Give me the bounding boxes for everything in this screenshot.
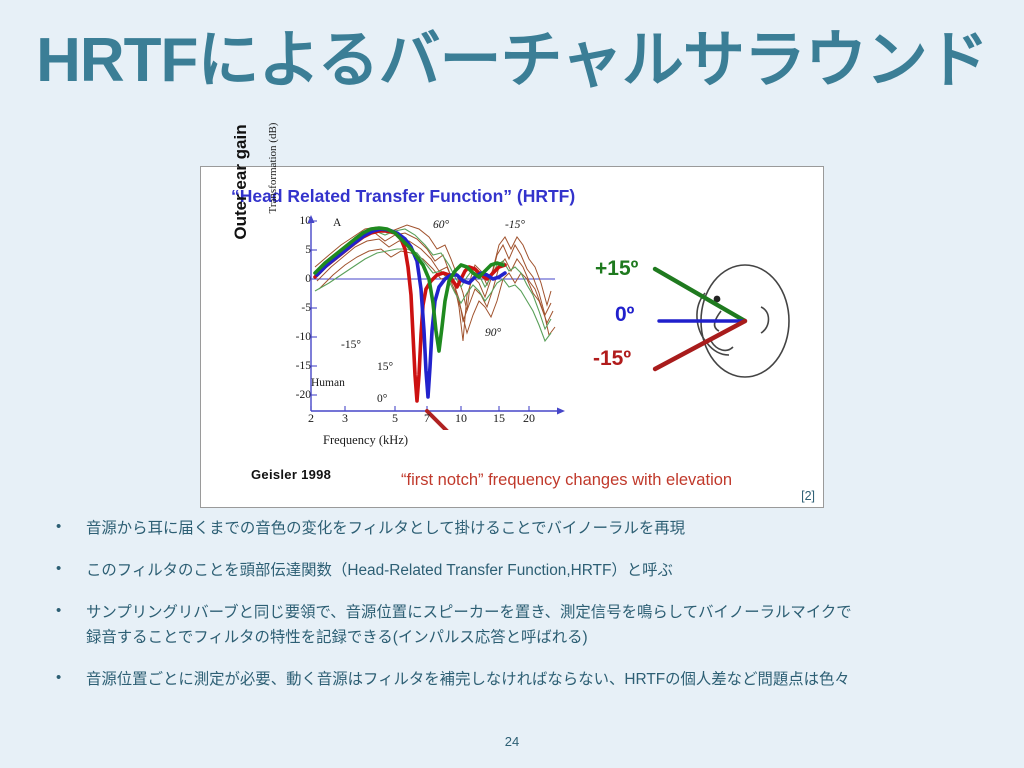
plot-svg <box>237 215 567 430</box>
hrtf-plot: Outer ear gain Transformation (dB) 10 5 … <box>237 215 627 505</box>
bullet-line: 録音することでフィルタの特性を記録できる(インパルス応答と呼ばれる) <box>86 625 988 650</box>
list-item: • 音源から耳に届くまでの音色の変化をフィルタとして掛けることでバイノーラルを再… <box>48 516 988 541</box>
bullet-marker: • <box>48 600 86 622</box>
figure-caption: “first notch” frequency changes with ele… <box>401 471 732 490</box>
bullet-marker: • <box>48 667 86 689</box>
bullet-text: このフィルタのことを頭部伝達関数（Head-Related Transfer F… <box>86 558 988 583</box>
plot-note-species: Human <box>311 377 345 389</box>
y-tick-marks <box>311 221 317 395</box>
slide: HRTFによるバーチャルサラウンド “Head Related Transfer… <box>0 0 1024 768</box>
x-tick: 20 <box>523 411 535 426</box>
figure-reference: [2] <box>801 489 815 503</box>
plot-note-plus15deg: 15° <box>377 361 393 373</box>
bullet-text: 音源から耳に届くまでの音色の変化をフィルタとして掛けることでバイノーラルを再現 <box>86 516 988 541</box>
angle-label-minus-15: -15º <box>593 347 631 371</box>
plot-note-minus15deg: -15° <box>341 339 361 351</box>
head-elevation-diagram: +15º 0º -15º <box>593 251 811 391</box>
plot-note-60deg: 60° <box>433 219 449 231</box>
list-item: • 音源位置ごとに測定が必要、動く音源はフィルタを補完しなければならない、HRT… <box>48 667 988 692</box>
bullet-list: • 音源から耳に届くまでの音色の変化をフィルタとして掛けることでバイノーラルを再… <box>48 516 988 709</box>
bullet-line: 音源位置ごとに測定が必要、動く音源はフィルタを補完しなければならない、HRTFの… <box>86 667 988 692</box>
x-axis-arrow <box>557 408 565 415</box>
x-axis-ticks: 2 3 5 7 10 15 20 <box>237 411 527 431</box>
plot-note-0deg: 0° <box>377 393 387 405</box>
list-item: • このフィルタのことを頭部伝達関数（Head-Related Transfer… <box>48 558 988 583</box>
plot-note-top-minus15deg: -15° <box>505 219 525 231</box>
page-number: 24 <box>0 734 1024 749</box>
x-tick: 7 <box>424 411 430 426</box>
bullet-line: このフィルタのことを頭部伝達関数（Head-Related Transfer F… <box>86 558 988 583</box>
bullet-text: 音源位置ごとに測定が必要、動く音源はフィルタを補完しなければならない、HRTFの… <box>86 667 988 692</box>
y-axis-arrow <box>308 215 315 223</box>
bullet-marker: • <box>48 516 86 538</box>
bullet-line: サンプリングリバーブと同じ要領で、音源位置にスピーカーを置き、測定信号を鳴らして… <box>86 600 988 625</box>
x-axis-title: Frequency (kHz) <box>323 433 408 448</box>
x-tick: 3 <box>342 411 348 426</box>
figure-heading: “Head Related Transfer Function” (HRTF) <box>231 186 575 207</box>
plot-note-90deg: 90° <box>485 327 501 339</box>
bullet-marker: • <box>48 558 86 580</box>
list-item: • サンプリングリバーブと同じ要領で、音源位置にスピーカーを置き、測定信号を鳴ら… <box>48 600 988 650</box>
bullet-line: 音源から耳に届くまでの音色の変化をフィルタとして掛けることでバイノーラルを再現 <box>86 516 988 541</box>
angle-label-0: 0º <box>615 303 634 327</box>
figure-citation: Geisler 1998 <box>251 467 331 482</box>
x-tick: 15 <box>493 411 505 426</box>
angle-label-plus-15: +15º <box>595 257 638 281</box>
page-title: HRTFによるバーチャルサラウンド <box>0 28 1024 93</box>
x-tick: 2 <box>308 411 314 426</box>
x-tick: 10 <box>455 411 467 426</box>
bullet-text: サンプリングリバーブと同じ要領で、音源位置にスピーカーを置き、測定信号を鳴らして… <box>86 600 988 650</box>
figure-frame: “Head Related Transfer Function” (HRTF) … <box>200 166 824 508</box>
plot-note-subject: A <box>333 217 341 229</box>
x-tick: 5 <box>392 411 398 426</box>
